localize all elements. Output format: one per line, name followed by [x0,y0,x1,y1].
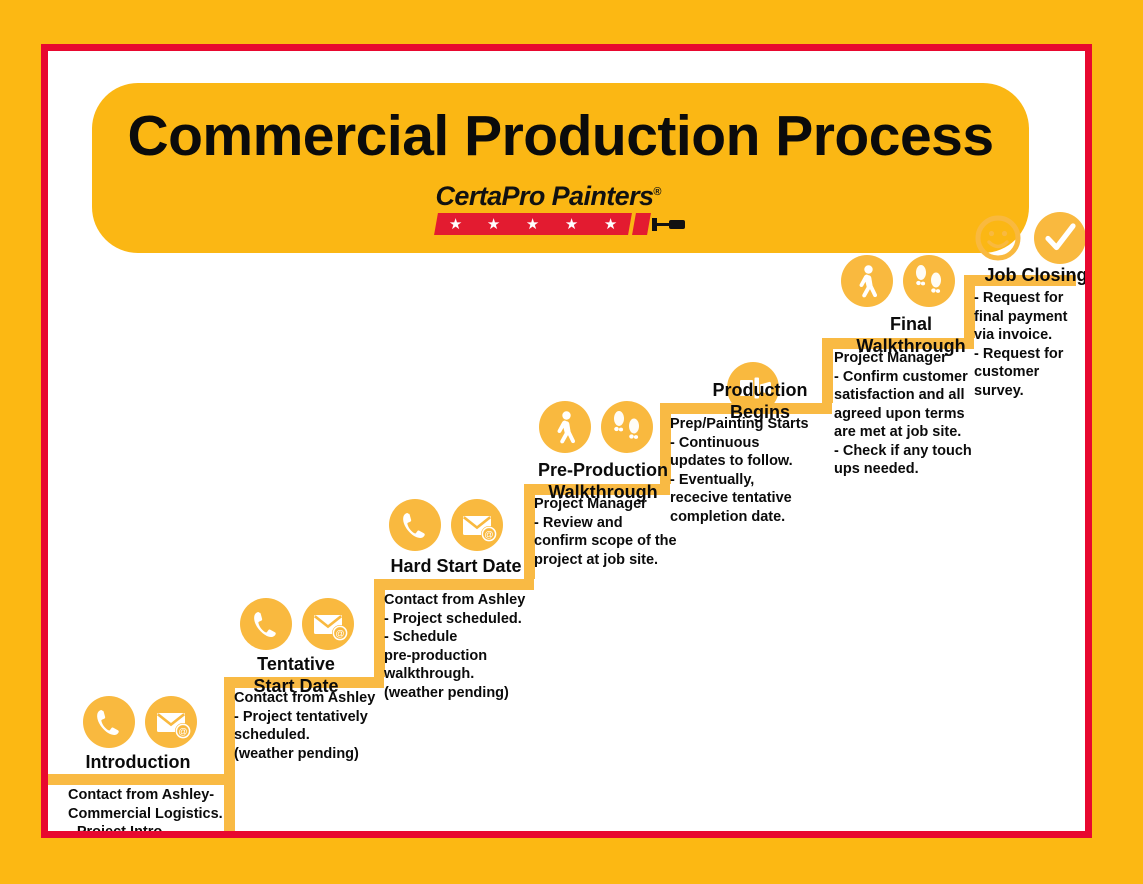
certapro-logo: CertaPro Painters® ★ ★ ★ ★ ★ [436,177,686,235]
infographic-root: Commercial Production Process CertaPro P… [0,0,1143,884]
logo-star-bar: ★ ★ ★ ★ ★ [436,213,686,235]
footprints-icon [903,255,955,307]
email-at-icon: @ [145,696,197,748]
page-title: Commercial Production Process [92,83,1029,169]
step-body-hard-start: Contact from Ashley - Project scheduled.… [384,591,584,702]
phone-icon [389,499,441,551]
step-body-job-closing: - Request for final payment via invoice.… [974,289,1085,400]
check-circle-icon [1034,212,1085,264]
phone-icon [240,598,292,650]
paint-roller-icon [652,213,686,235]
walking-person-icon [841,255,893,307]
svg-text:@: @ [484,530,493,540]
footprints-icon [601,401,653,453]
step-title-introduction: Introduction [58,751,218,773]
phone-icon [83,696,135,748]
step-icons-hard-start: @ [389,499,503,551]
email-at-icon: @ [451,499,503,551]
header-panel: Commercial Production Process CertaPro P… [92,83,1029,253]
step-icons-introduction: @ [83,696,197,748]
step-icons-final-walkthrough [841,255,955,307]
star-icon: ★ [448,217,461,232]
star-icon: ★ [487,217,500,232]
star-icon: ★ [526,217,539,232]
step-title-job-closing: Job Closing [956,264,1085,286]
svg-text:@: @ [335,629,344,639]
walking-person-icon [539,401,591,453]
logo-red-bar: ★ ★ ★ ★ ★ [434,213,631,235]
star-icon: ★ [603,217,616,232]
step-title-hard-start: Hard Start Date [366,555,546,577]
white-canvas: Commercial Production Process CertaPro P… [48,51,1085,831]
logo-wordmark-text: CertaPro Painters [436,181,654,211]
svg-text:@: @ [178,727,187,737]
smiley-face-icon [972,212,1024,264]
step-body-introduction: Contact from Ashley- Commercial Logistic… [68,786,258,831]
email-at-icon: @ [302,598,354,650]
step-icons-tentative: @ [240,598,354,650]
registered-mark: ® [653,186,661,198]
star-icon: ★ [564,217,577,232]
red-border-frame: Commercial Production Process CertaPro P… [41,44,1092,838]
logo-red-chip [632,213,651,235]
step-icons-pre-production [539,401,653,453]
step-icons-job-closing [972,212,1085,264]
logo-wordmark: CertaPro Painters® [436,177,686,211]
